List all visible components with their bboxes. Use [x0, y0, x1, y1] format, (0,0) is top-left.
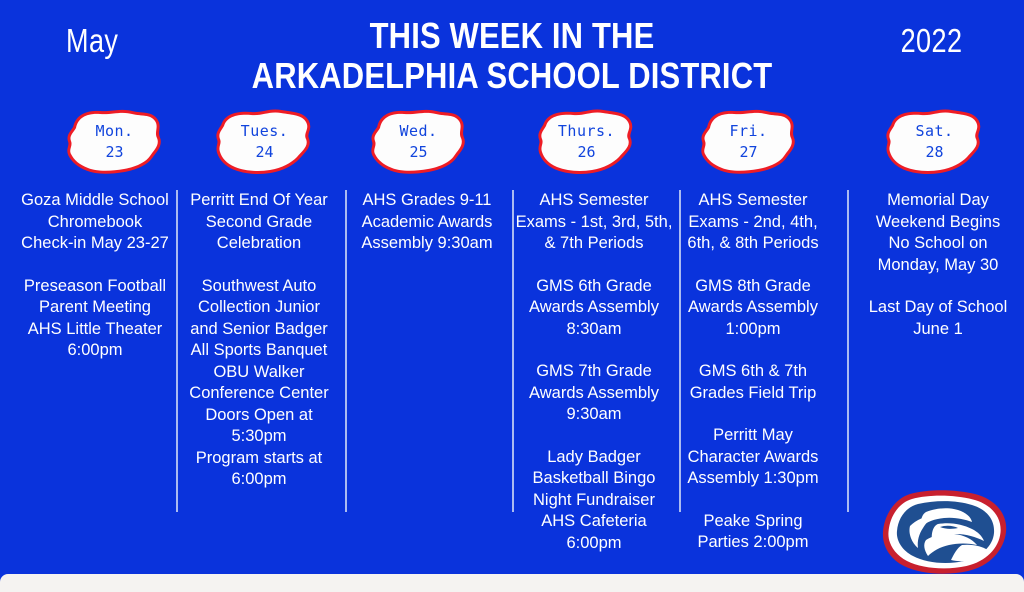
- day-badge-friday: Fri.27: [696, 108, 801, 180]
- column-divider: [512, 190, 514, 512]
- event-item: GMS 6th & 7th Grades Field Trip: [664, 361, 842, 404]
- day-badge-monday: Mon.23: [62, 108, 167, 180]
- day-column-monday: Goza Middle School Chromebook Check-in M…: [6, 190, 184, 362]
- day-badge-thursday: Thurs.26: [534, 108, 639, 180]
- column-divider: [176, 190, 178, 512]
- event-item: Goza Middle School Chromebook Check-in M…: [6, 190, 184, 255]
- title-line-2: ARKADELPHIA SCHOOL DISTRICT: [185, 56, 839, 96]
- event-item: Southwest Auto Collection Junior and Sen…: [170, 276, 348, 491]
- day-column-thursday: AHS Semester Exams - 1st, 3rd, 5th, & 7t…: [505, 190, 683, 554]
- event-item: Peake Spring Parties 2:00pm: [664, 511, 842, 554]
- event-item: Perritt End Of Year Second Grade Celebra…: [170, 190, 348, 255]
- page-title: THIS WEEK IN THE ARKADELPHIA SCHOOL DIST…: [132, 16, 892, 96]
- event-item: AHS Semester Exams - 1st, 3rd, 5th, & 7t…: [505, 190, 683, 255]
- day-badge-tuesday: Tues.24: [212, 108, 317, 180]
- column-divider: [847, 190, 849, 512]
- day-column-saturday: Memorial Day Weekend Begins No School on…: [849, 190, 1024, 340]
- poster-header: May THIS WEEK IN THE ARKADELPHIA SCHOOL …: [0, 0, 1024, 104]
- day-badge-wednesday: Wed.25: [366, 108, 471, 180]
- day-column-tuesday: Perritt End Of Year Second Grade Celebra…: [170, 190, 348, 491]
- bottom-bar: [0, 574, 1024, 592]
- event-item: GMS 7th Grade Awards Assembly 9:30am: [505, 361, 683, 426]
- event-item: AHS Semester Exams - 2nd, 4th, 6th, & 8t…: [664, 190, 842, 255]
- year-label: 2022: [900, 22, 962, 60]
- title-line-1: THIS WEEK IN THE: [185, 16, 839, 56]
- weekly-calendar-poster: May THIS WEEK IN THE ARKADELPHIA SCHOOL …: [0, 0, 1024, 592]
- event-item: GMS 6th Grade Awards Assembly 8:30am: [505, 276, 683, 341]
- day-column-friday: AHS Semester Exams - 2nd, 4th, 6th, & 8t…: [664, 190, 842, 554]
- day-badges-row: Mon.23Tues.24Wed.25Thurs.26Fri.27Sat.28: [0, 108, 1024, 184]
- event-item: Memorial Day Weekend Begins No School on…: [849, 190, 1024, 276]
- column-divider: [345, 190, 347, 512]
- arkadelphia-badgers-logo: [880, 488, 1010, 576]
- day-badge-saturday: Sat.28: [882, 108, 987, 180]
- event-item: Last Day of School June 1: [849, 297, 1024, 340]
- column-divider: [679, 190, 681, 512]
- day-column-wednesday: AHS Grades 9-11 Academic Awards Assembly…: [338, 190, 516, 255]
- day-columns: Goza Middle School Chromebook Check-in M…: [0, 190, 1024, 515]
- event-item: Preseason Football Parent Meeting AHS Li…: [6, 276, 184, 362]
- month-label: May: [66, 22, 118, 60]
- event-item: AHS Grades 9-11 Academic Awards Assembly…: [338, 190, 516, 255]
- event-item: Lady Badger Basketball Bingo Night Fundr…: [505, 447, 683, 555]
- event-item: Perritt May Character Awards Assembly 1:…: [664, 425, 842, 490]
- event-item: GMS 8th Grade Awards Assembly 1:00pm: [664, 276, 842, 341]
